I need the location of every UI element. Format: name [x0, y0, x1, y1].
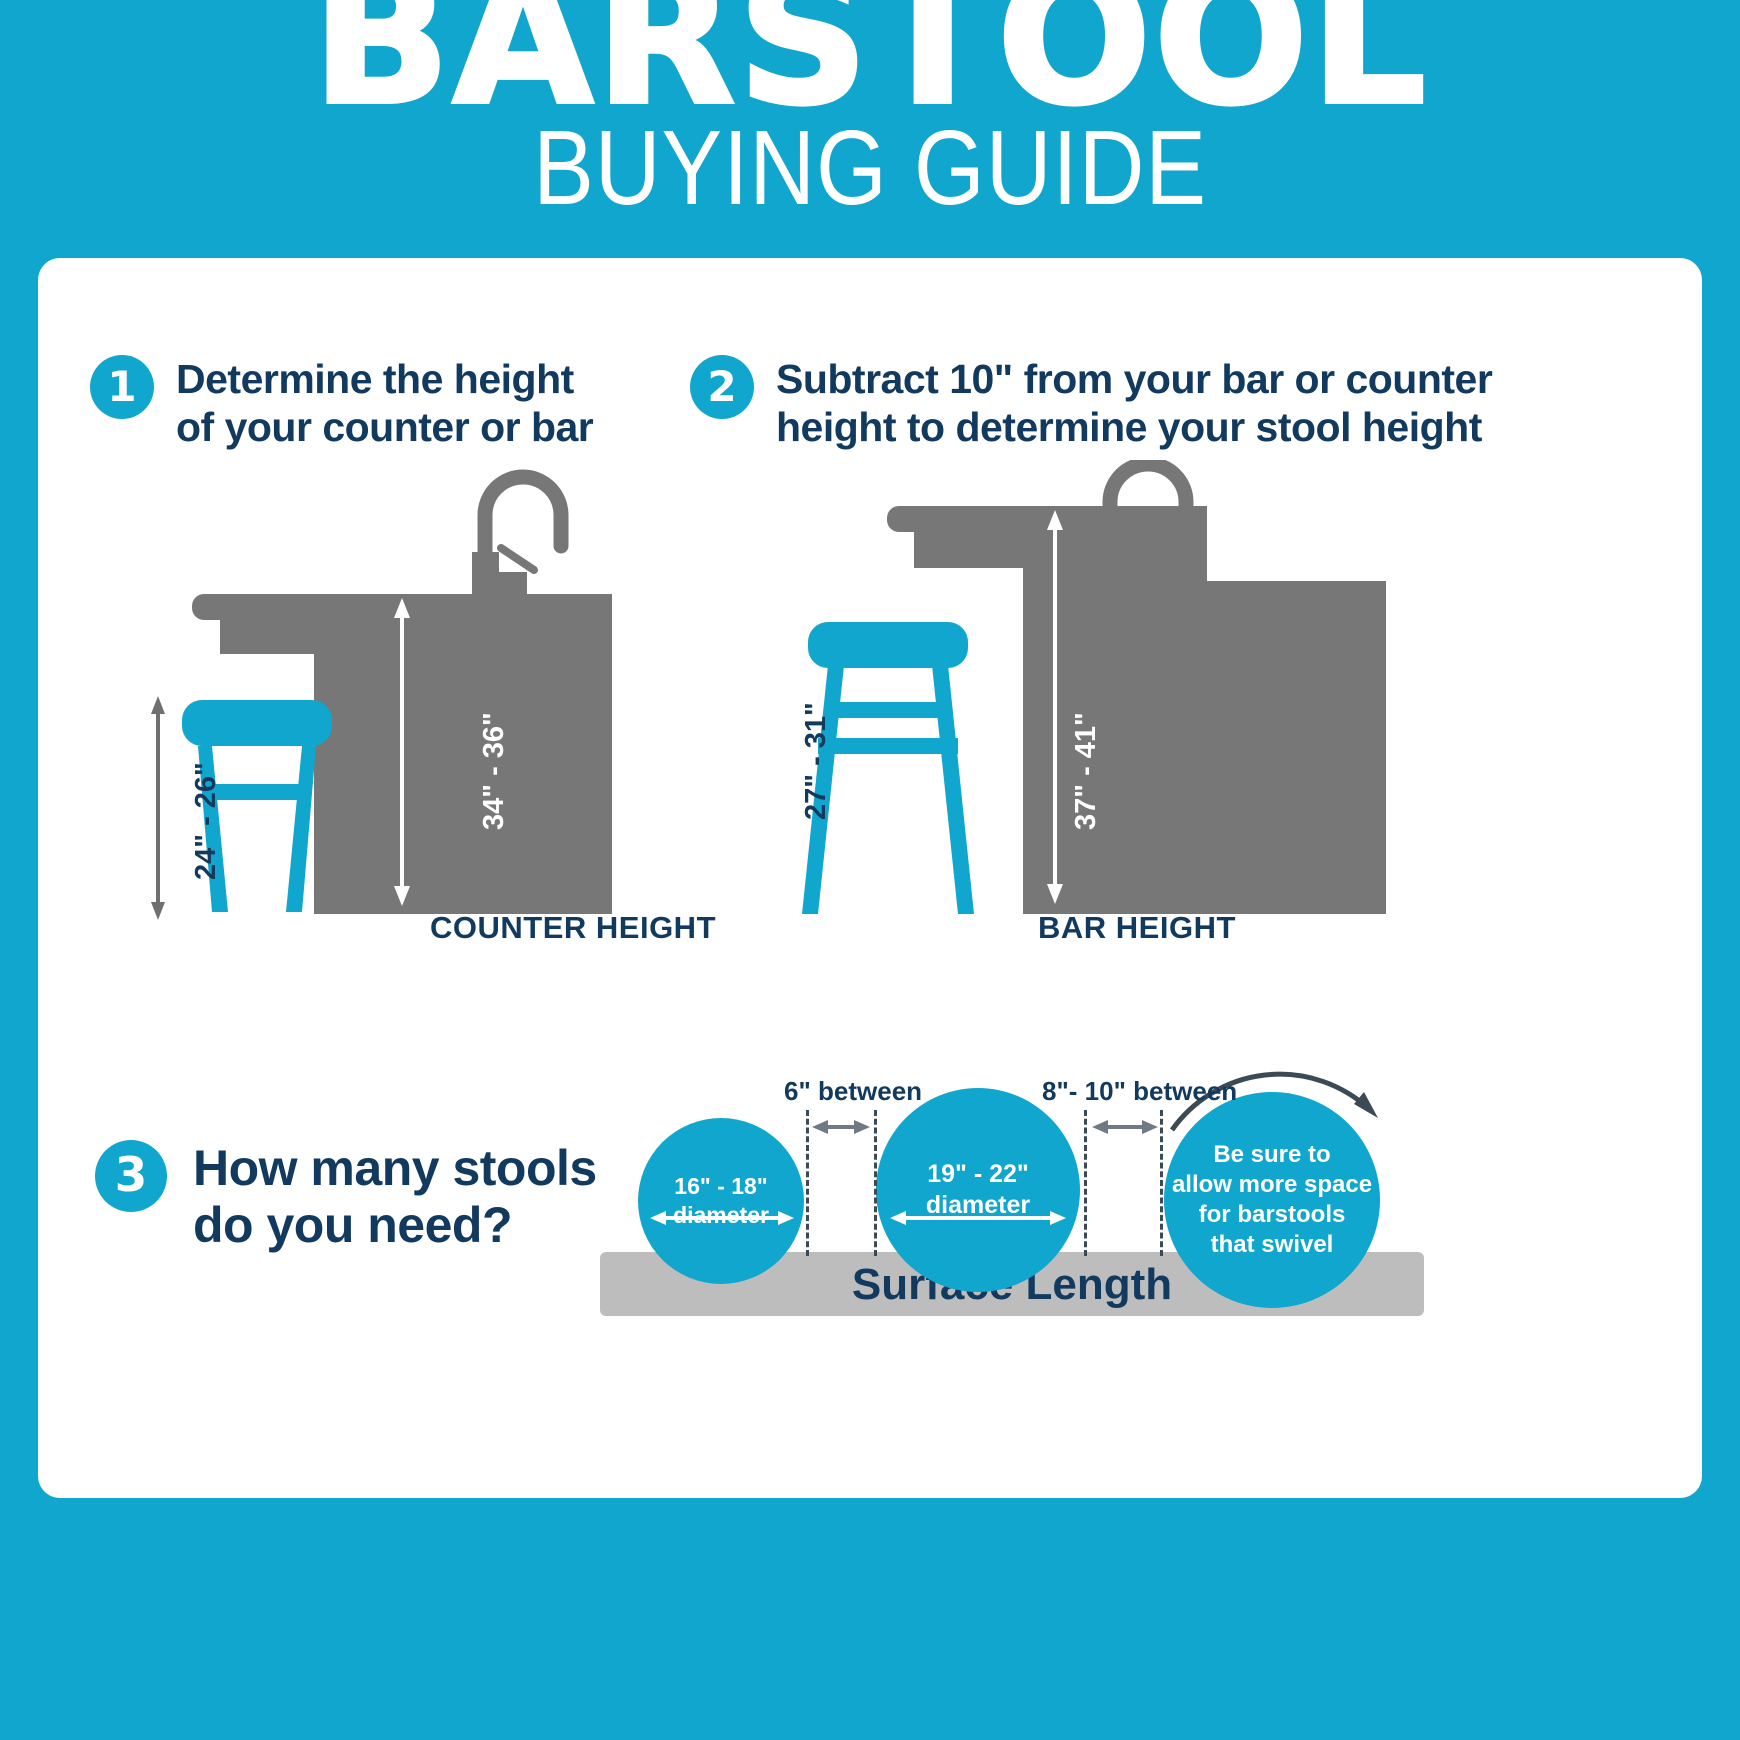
dash-guide-1 — [806, 1110, 809, 1256]
gap-label-2: 8"- 10" between — [1042, 1076, 1237, 1107]
diameter-arrows — [0, 0, 1740, 1740]
dash-guide-4 — [1160, 1110, 1163, 1256]
dash-guide-3 — [1084, 1110, 1087, 1256]
gap-label-1: 6" between — [784, 1076, 922, 1107]
dash-guide-2 — [874, 1110, 877, 1256]
